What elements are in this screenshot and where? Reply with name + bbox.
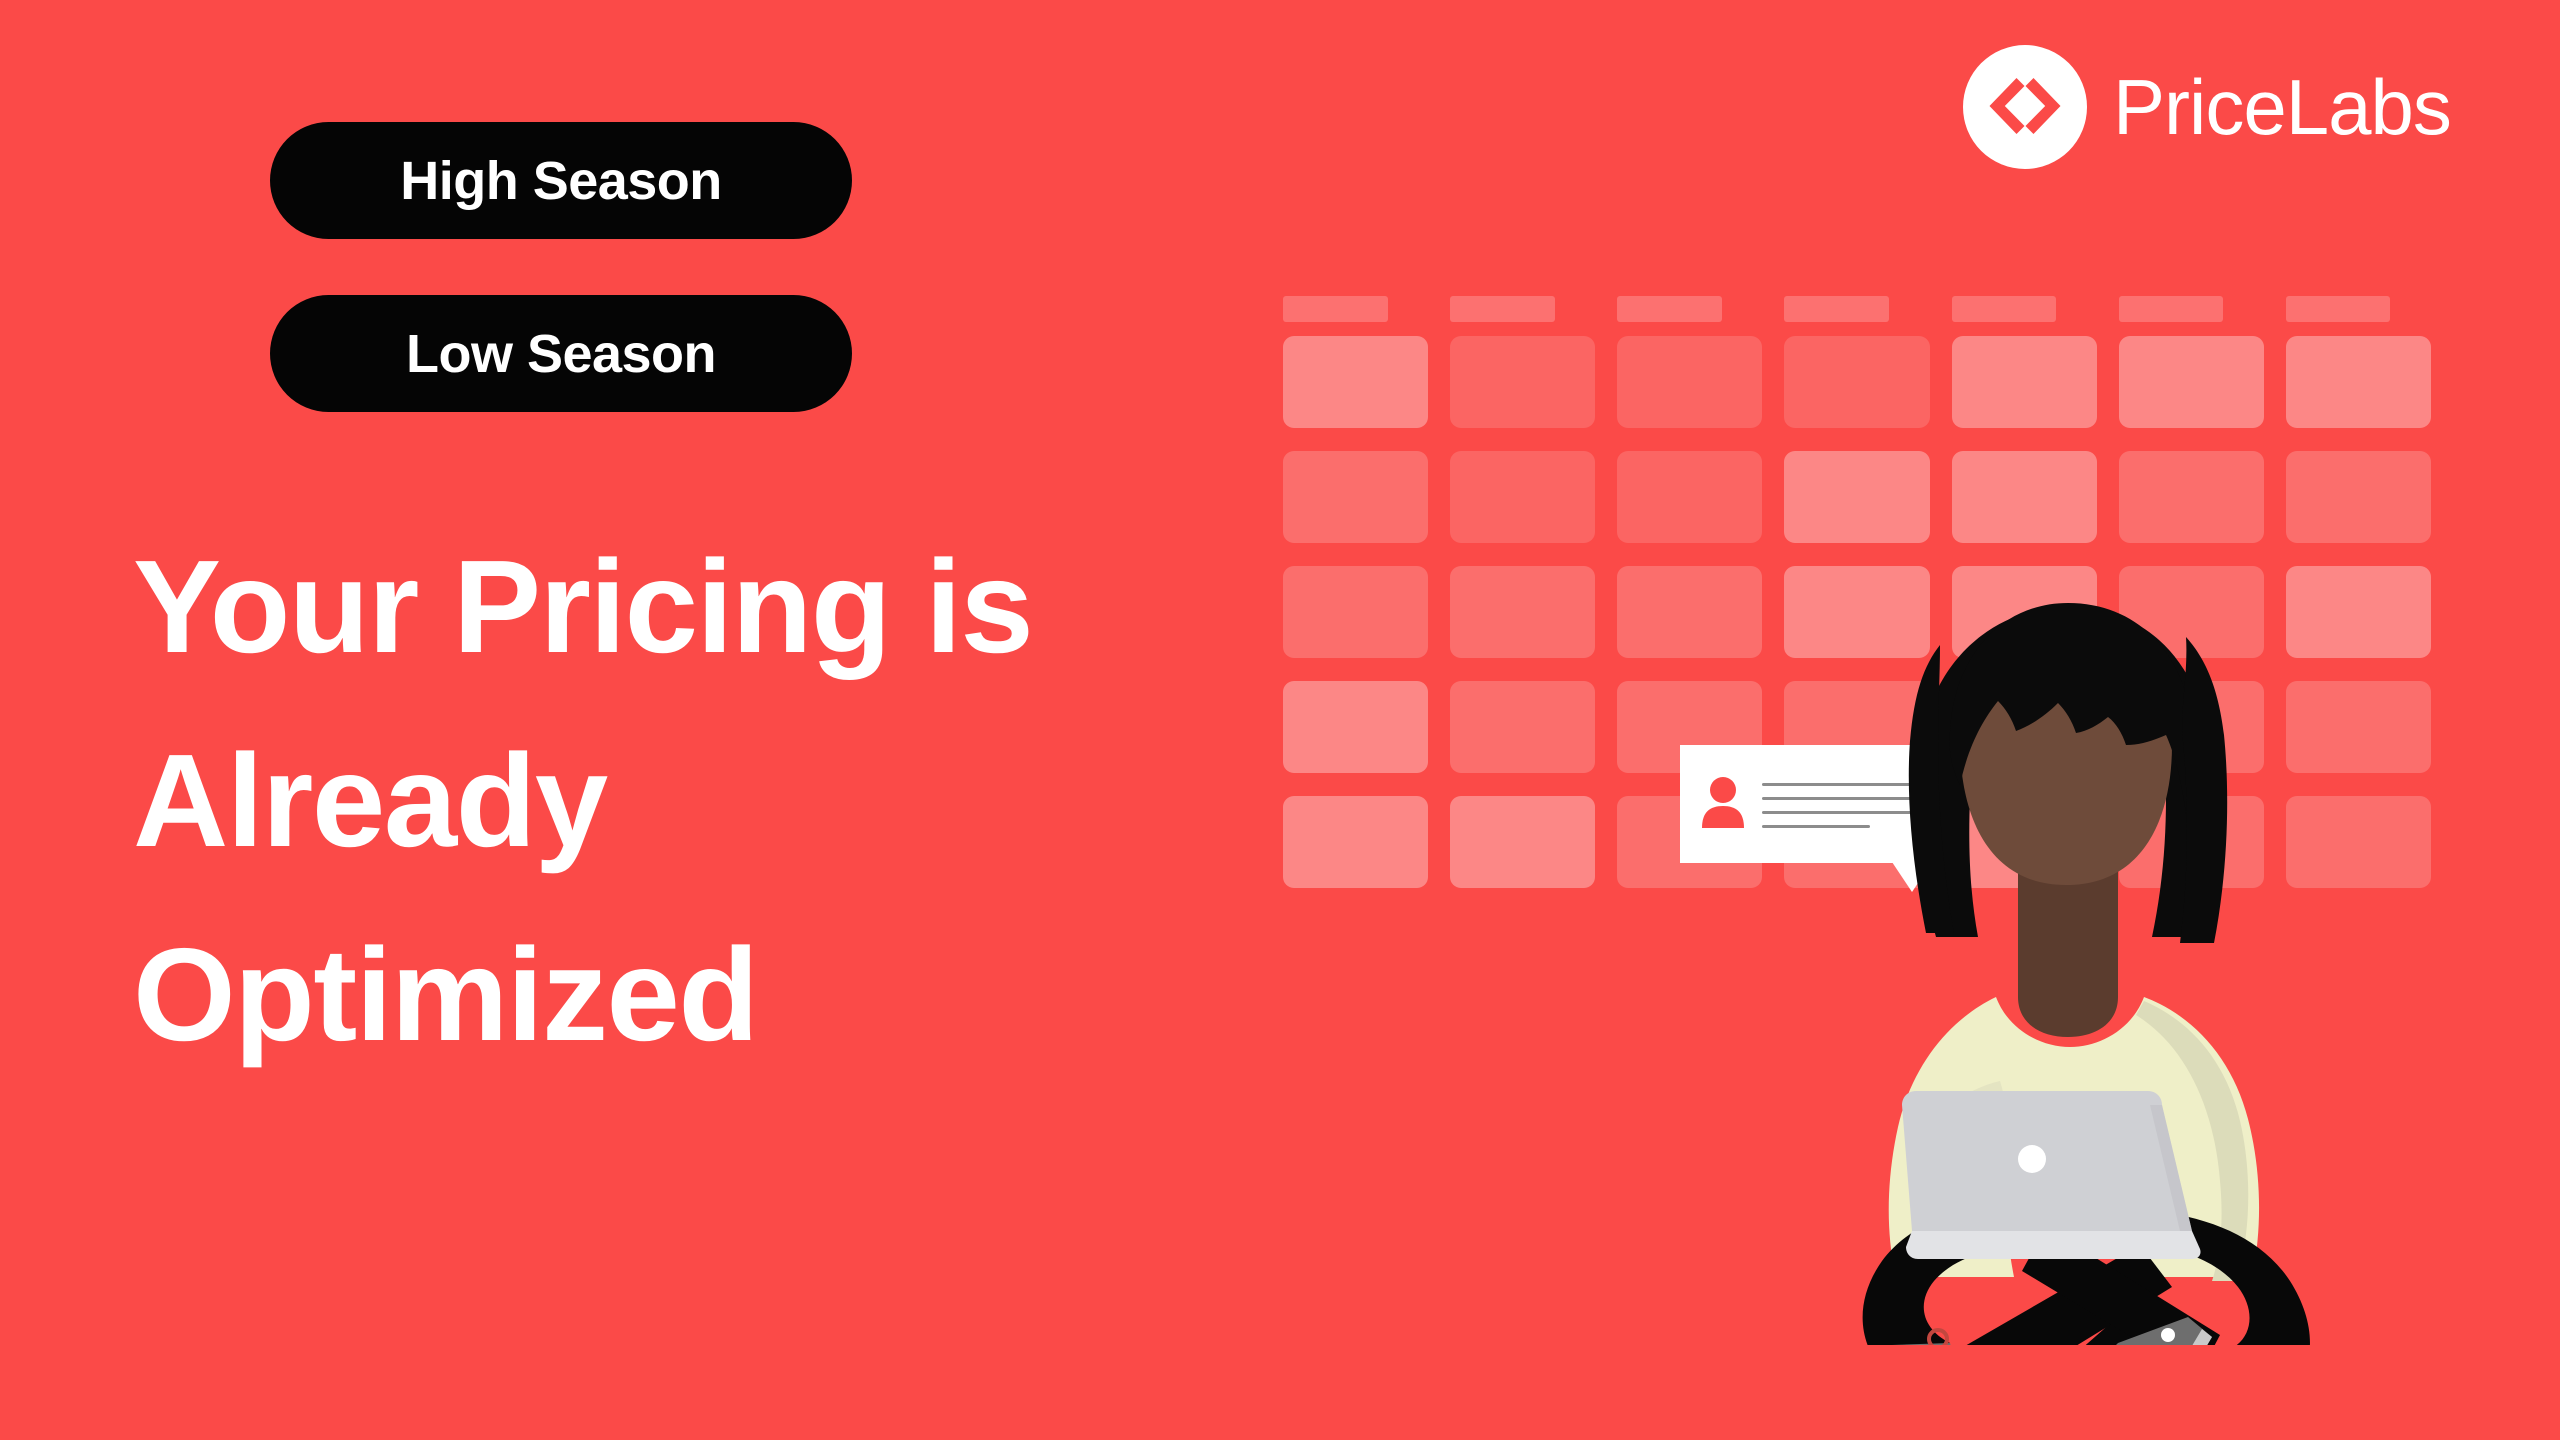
headline: Your Pricing is Already Optimized [133,510,1233,1092]
laptop [1902,1091,2201,1259]
badge-high-season[interactable]: High Season [270,122,852,239]
calendar-day-cell [1450,336,1595,428]
calendar-header-tab [1784,296,1889,322]
calendar-header-row [1283,296,2431,322]
calendar-day-cell [1450,796,1595,888]
calendar-day-cell [1283,796,1428,888]
calendar-day-cell [1784,451,1929,543]
calendar-header-tab [1283,296,1388,322]
calendar-day-cell [1617,566,1762,658]
person-avatar-icon [1700,776,1746,833]
calendar-day-cell [2286,336,2431,428]
calendar-day-cell [1952,336,2097,428]
calendar-day-cell [1283,566,1428,658]
calendar-header-tab [2286,296,2391,322]
chevrons-logo-icon [1963,45,2087,169]
calendar-day-cell [1450,681,1595,773]
brand-name: PriceLabs [2113,68,2451,146]
badge-high-season-label: High Season [400,150,722,212]
calendar-day-cell [1784,336,1929,428]
calendar-header-tab [1617,296,1722,322]
woman-with-laptop-illustration [1800,545,2440,1345]
calendar-day-cell [1283,451,1428,543]
headline-line-2: Already [133,704,1233,898]
calendar-day-cell [2286,451,2431,543]
calendar-header-tab [2119,296,2224,322]
calendar-day-cell [1617,451,1762,543]
headline-line-3: Optimized [133,898,1233,1092]
hair-right [2180,637,2227,943]
calendar-day-cell [1283,336,1428,428]
calendar-day-cell [2119,451,2264,543]
calendar-day-cell [1450,566,1595,658]
calendar-day-cell [1617,336,1762,428]
calendar-day-cell [1952,451,2097,543]
calendar-day-cell [1450,451,1595,543]
neck [2018,865,2118,1037]
calendar-day-cell [1283,681,1428,773]
pricelabs-logo[interactable]: PriceLabs [1963,45,2451,169]
calendar-header-tab [1450,296,1555,322]
calendar-header-tab [1952,296,2057,322]
badge-low-season-label: Low Season [406,323,716,385]
calendar-day-cell [2119,336,2264,428]
badge-low-season[interactable]: Low Season [270,295,852,412]
headline-line-1: Your Pricing is [133,510,1233,704]
promo-banner: PriceLabs High Season Low Season Your Pr… [0,0,2560,1440]
